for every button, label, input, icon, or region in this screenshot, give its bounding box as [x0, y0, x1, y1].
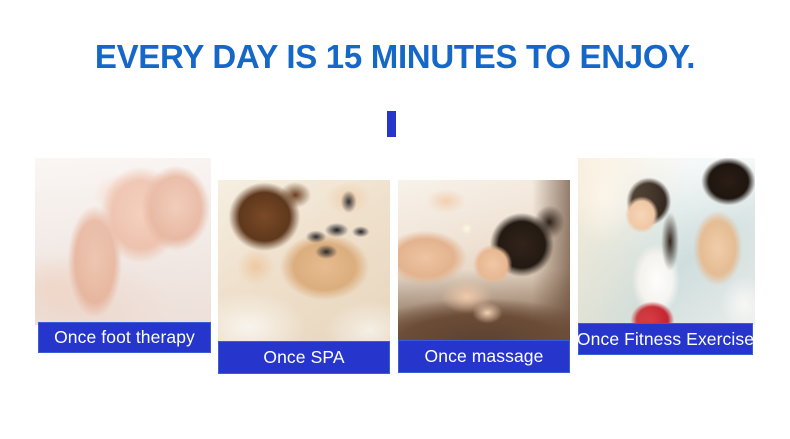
photo-flower-layer [398, 180, 570, 342]
card-label-foot-therapy: Once foot therapy [38, 322, 211, 353]
card-label-massage: Once massage [398, 340, 570, 373]
card-foot-therapy[interactable]: Once foot therapy [35, 158, 211, 353]
card-label-fitness: Once Fitness Exercise [578, 323, 753, 355]
card-spa[interactable]: Once SPA [218, 180, 390, 374]
page-title: EVERY DAY IS 15 MINUTES TO ENJOY. [0, 38, 790, 76]
card-fitness[interactable]: Once Fitness Exercise [578, 158, 755, 355]
photo-shading-layer [35, 158, 211, 325]
promo-banner: EVERY DAY IS 15 MINUTES TO ENJOY. Once f… [0, 0, 790, 439]
hot-stone-spa-photo [218, 180, 390, 347]
accent-tick-divider [387, 111, 396, 137]
card-massage[interactable]: Once massage [398, 180, 570, 373]
card-label-spa: Once SPA [218, 341, 390, 374]
back-massage-photo [398, 180, 570, 342]
photo-hot-stones-layer [218, 180, 390, 347]
foot-therapy-photo [35, 158, 211, 325]
photo-warm-light-layer [578, 158, 755, 325]
fitness-exercise-photo [578, 158, 755, 325]
